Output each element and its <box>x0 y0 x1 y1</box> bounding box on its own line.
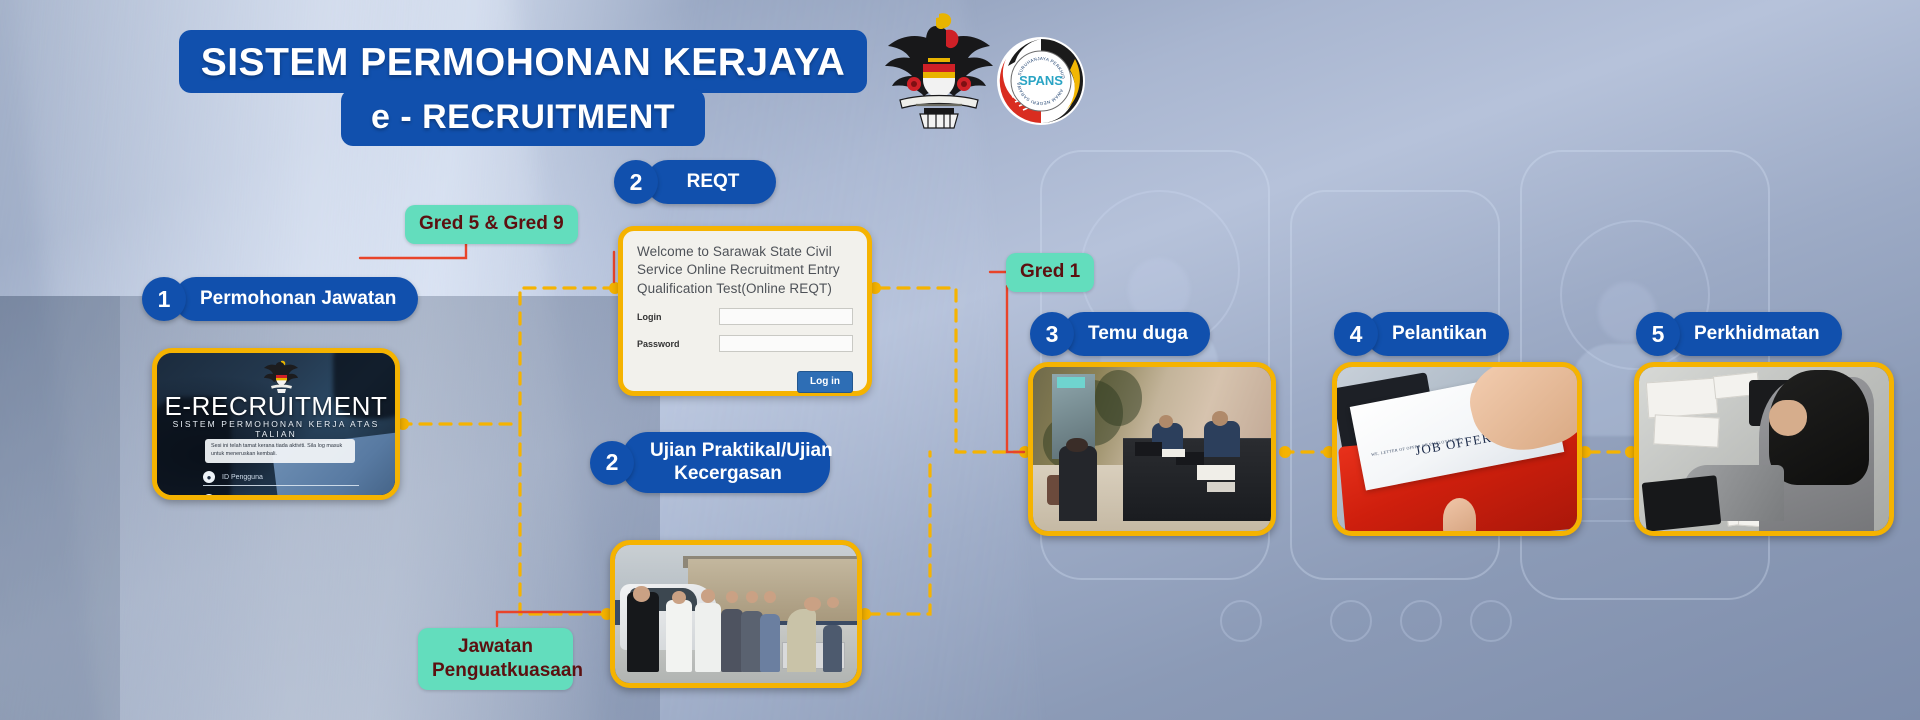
erecruitment-password-field[interactable]: 🔒 Kata Laluan <box>203 492 359 495</box>
tag-jawatan-penguatkuasaan: Jawatan Penguatkuasaan <box>418 628 573 690</box>
title-line-2: e - RECRUITMENT <box>341 89 705 146</box>
reqt-login-input[interactable] <box>719 308 853 325</box>
erecruitment-user-field[interactable]: ● ID Pengguna <box>203 469 359 486</box>
step-label: Ujian Praktikal/Ujian Kecergasan <box>622 432 830 493</box>
lock-icon: 🔒 <box>203 494 215 495</box>
tag-gred-1: Gred 1 <box>1006 253 1094 292</box>
tag-line-1: Jawatan <box>458 636 533 657</box>
job-offer-letter-photo: WE, LETTER OF OFFER OF EMPLOYMENT JOB OF… <box>1337 367 1577 531</box>
step-number-badge: 3 <box>1030 312 1074 356</box>
step-number-badge: 2 <box>614 160 658 204</box>
step-number-badge: 5 <box>1636 312 1680 356</box>
step-label: Pelantikan <box>1366 312 1509 356</box>
step-5-perkhidmatan[interactable]: 5 Perkhidmatan <box>1636 312 1842 356</box>
step-label-line-1: Ujian Praktikal/Ujian <box>650 440 833 461</box>
reqt-login-label: Login <box>637 312 719 322</box>
step-2-ujian-praktikal[interactable]: 2 Ujian Praktikal/Ujian Kecergasan <box>590 432 830 493</box>
erecruitment-crest-icon <box>263 359 299 393</box>
step-number-badge: 2 <box>590 441 634 485</box>
service-photo-card[interactable] <box>1634 362 1894 536</box>
erecruitment-subtitle: SISTEM PERMOHONAN KERJA ATAS TALIAN <box>157 419 395 439</box>
practical-test-photo-card[interactable] <box>610 540 862 688</box>
step-3-temu-duga[interactable]: 3 Temu duga <box>1030 312 1210 356</box>
background-dark-edge <box>0 296 120 720</box>
reqt-password-row: Password <box>637 335 853 352</box>
practical-test-photo <box>615 545 857 683</box>
background-circle-small <box>1220 600 1262 642</box>
step-label: Temu duga <box>1062 312 1210 356</box>
step-label: Perkhidmatan <box>1668 312 1842 356</box>
erecruitment-title: E-RECRUITMENT <box>157 391 395 422</box>
step-label: REQT <box>646 160 776 204</box>
reqt-login-panel[interactable]: Welcome to Sarawak State Civil Service O… <box>618 226 872 396</box>
background-circle-small <box>1400 600 1442 642</box>
step-number-badge: 4 <box>1334 312 1378 356</box>
erecruitment-user-placeholder: ID Pengguna <box>222 474 263 481</box>
sarawak-coat-of-arms-icon <box>880 8 998 132</box>
reqt-password-label: Password <box>637 339 719 349</box>
reqt-login-button[interactable]: Log in <box>797 371 853 393</box>
user-circle-icon: ● <box>203 471 215 483</box>
job-offer-letter-photo-card[interactable]: WE, LETTER OF OFFER OF EMPLOYMENT JOB OF… <box>1332 362 1582 536</box>
erecruitment-session-notice: Sesi ini telah tamat kerana tiada aktivi… <box>205 439 355 463</box>
tag-line-2: Penguatkuasaan <box>432 660 583 681</box>
reqt-password-input[interactable] <box>719 335 853 352</box>
background-circle-small <box>1470 600 1512 642</box>
spans-logo-icon: SURUHANJAYA PERKHIDMATAN AWAM NEGERI SAR… <box>996 36 1086 126</box>
step-number-badge: 1 <box>142 277 186 321</box>
title-line-1: SISTEM PERMOHONAN KERJAYA <box>179 30 868 93</box>
tag-gred-5-and-gred-9: Gred 5 & Gred 9 <box>405 205 578 244</box>
step-4-pelantikan[interactable]: 4 Pelantikan <box>1334 312 1509 356</box>
spans-wordmark: SPANS <box>1019 73 1063 88</box>
page-title: SISTEM PERMOHONAN KERJAYA e - RECRUITMEN… <box>162 30 884 146</box>
reqt-welcome-text: Welcome to Sarawak State Civil Service O… <box>637 243 853 298</box>
reqt-login-row: Login <box>637 308 853 325</box>
service-photo <box>1639 367 1889 531</box>
step-2-reqt[interactable]: 2 REQT <box>614 160 776 204</box>
background-circle-small <box>1330 600 1372 642</box>
step-label: Permohonan Jawatan <box>174 277 418 321</box>
erecruitment-login-screenshot-card[interactable]: E-RECRUITMENT SISTEM PERMOHONAN KERJA AT… <box>152 348 400 500</box>
interview-photo <box>1033 367 1271 531</box>
step-label-line-2: Kecergasan <box>674 463 782 484</box>
interview-photo-card[interactable] <box>1028 362 1276 536</box>
step-1-permohonan-jawatan[interactable]: 1 Permohonan Jawatan <box>142 277 418 321</box>
